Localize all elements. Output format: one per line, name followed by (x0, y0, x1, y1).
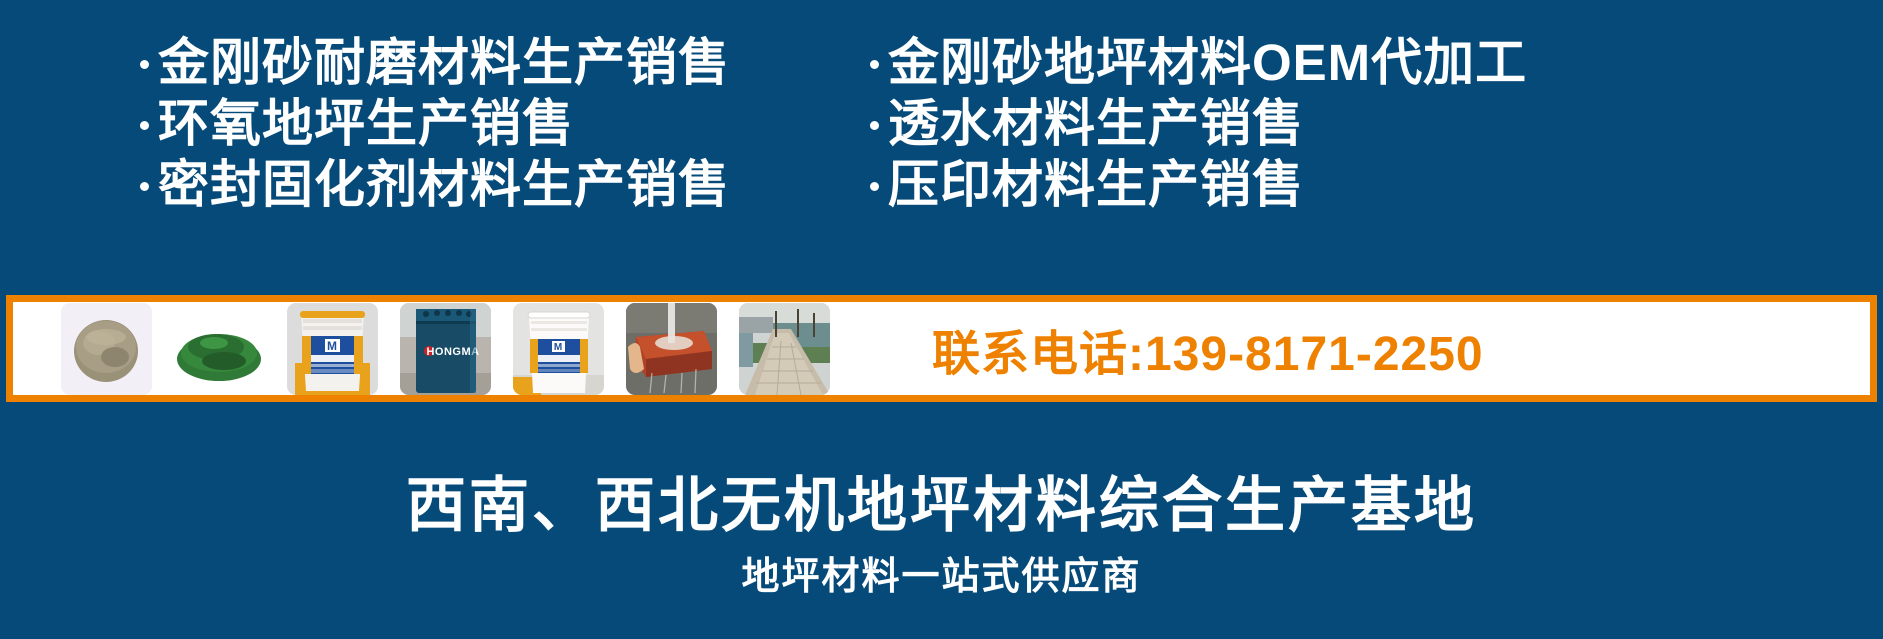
feature-label: 密封固化剂材料生产销售 (158, 156, 730, 214)
feature-list: 金刚砂耐磨材料生产销售 环氧地坪生产销售 密封固化剂材料生产销售 金刚砂地坪材料… (0, 34, 1883, 230)
feature-column-right: 金刚砂地坪材料OEM代加工 透水材料生产销售 压印材料生产销售 (860, 34, 1883, 230)
feature-item: 环氧地坪生产销售 (140, 95, 860, 153)
grey-abrasive-powder-photo[interactable] (61, 303, 152, 395)
feature-item: 密封固化剂材料生产销售 (140, 156, 860, 214)
bullet-dot-icon (140, 121, 149, 130)
feature-item: 金刚砂耐磨材料生产销售 (140, 34, 860, 92)
green-powder-photo[interactable] (174, 303, 265, 395)
bullet-dot-icon (870, 121, 879, 130)
contact-phone[interactable]: 联系电话:139-8171-2250 (932, 314, 1484, 384)
bullet-dot-icon (870, 60, 879, 69)
feature-item: 金刚砂地坪材料OEM代加工 (870, 34, 1883, 92)
footer-subline: 地坪材料一站式供应商 (0, 545, 1883, 600)
feature-column-left: 金刚砂耐磨材料生产销售 环氧地坪生产销售 密封固化剂材料生产销售 (0, 34, 860, 230)
bullet-dot-icon (140, 60, 149, 69)
bullet-dot-icon (140, 182, 149, 191)
svg-text:M: M (327, 339, 337, 353)
hongma-drum-photo[interactable]: HONGMA (400, 303, 491, 395)
footer-headline: 西南、西北无机地坪材料综合生产基地 (0, 457, 1883, 544)
feature-item: 透水材料生产销售 (870, 95, 1883, 153)
feature-label: 环氧地坪生产销售 (158, 95, 574, 153)
stamped-concrete-path-photo[interactable] (739, 303, 830, 395)
feature-label: 金刚砂耐磨材料生产销售 (158, 34, 730, 92)
advertising-banner: 金刚砂耐磨材料生产销售 环氧地坪生产销售 密封固化剂材料生产销售 金刚砂地坪材料… (0, 0, 1883, 639)
feature-label: 金刚砂地坪材料OEM代加工 (888, 34, 1527, 92)
feature-label: 压印材料生产销售 (888, 156, 1304, 214)
bullet-dot-icon (870, 182, 879, 191)
feature-item: 压印材料生产销售 (870, 156, 1883, 214)
feature-label: 透水材料生产销售 (888, 95, 1304, 153)
permeable-paver-photo[interactable] (626, 303, 717, 395)
thumbnail-row: M (13, 302, 830, 395)
svg-text:M: M (554, 342, 562, 353)
product-photo-strip: M (6, 295, 1877, 402)
epoxy-coating-bucket-photo[interactable]: M (513, 303, 604, 395)
sealer-bucket-photo[interactable]: M (287, 303, 378, 395)
